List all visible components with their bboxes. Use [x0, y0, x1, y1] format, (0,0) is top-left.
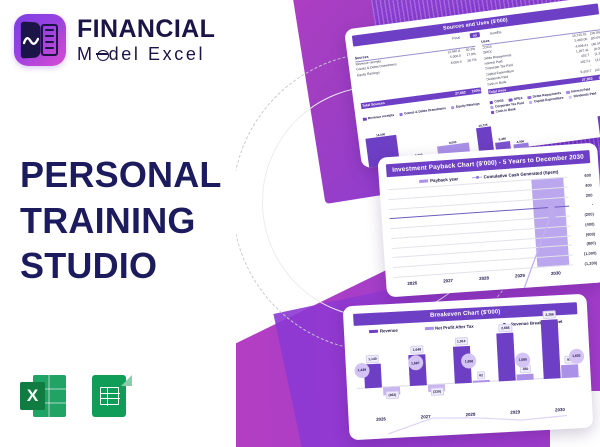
y-tick: 200	[586, 192, 593, 197]
total-pct: 100%	[592, 75, 600, 81]
supported-formats: X	[20, 373, 132, 419]
legend-item: Revenue	[369, 327, 398, 333]
y-tick: (1,000)	[584, 250, 597, 256]
y-tick: 400	[585, 182, 592, 187]
financial-model-excel-logo-icon	[14, 14, 66, 66]
brand-o-glyph-icon	[96, 47, 108, 61]
legend-swatch	[489, 101, 493, 105]
legend-swatch	[508, 98, 512, 102]
legend-label: Revenue receipts	[368, 113, 395, 120]
logo-document-icon	[41, 24, 58, 56]
y-tick: 600	[584, 172, 591, 177]
y-tick: (800)	[586, 241, 596, 247]
legend-label: Grants & Debts Drawdowns	[404, 107, 446, 116]
legend-swatch-revenue	[369, 329, 378, 333]
bar-label: 14,000	[376, 132, 386, 137]
logo-wave-icon	[23, 36, 39, 46]
legend-item: Equity Raisings	[451, 102, 480, 110]
page-title-line-3: STUDIO	[20, 243, 222, 289]
tab-all[interactable]: All	[470, 32, 481, 38]
bar-label: 10,725	[478, 123, 488, 128]
legend-swatch-npat	[424, 326, 433, 330]
legend-label: Revenue	[380, 327, 398, 333]
bar-label: 8,000	[449, 140, 457, 145]
revenue-label: 3,286	[543, 311, 557, 319]
legend-swatch	[399, 112, 403, 116]
legend-swatch	[451, 106, 455, 110]
brand-sub-prefix: M	[77, 45, 95, 63]
legend-swatch	[527, 96, 531, 100]
legend-item: Grants & Debts Drawdowns	[399, 107, 446, 117]
brand-sub-suffix: del Excel	[109, 45, 205, 63]
y-tick: (1,200)	[584, 260, 597, 266]
breakeven-card[interactable]: Breakeven Chart ($'000) Revenue Net Prof…	[343, 294, 594, 441]
poster-canvas: FINANCIAL M del Excel PERSONAL TRAINING …	[0, 0, 600, 447]
bar-label: 4,006	[516, 139, 524, 144]
legend-swatch-bar	[419, 179, 428, 183]
tab-final[interactable]: Final	[449, 35, 463, 42]
legend-label: Equity Raisings	[456, 102, 480, 109]
y-tick: (200)	[584, 211, 594, 217]
sheets-table-glyph	[100, 387, 119, 405]
legend-swatch	[363, 117, 367, 121]
legend-swatch	[566, 90, 570, 94]
legend-swatch-line	[472, 175, 482, 179]
excel-x-glyph: X	[20, 382, 45, 410]
brand-name-secondary: M del Excel	[77, 45, 215, 63]
page-title-line-1: PERSONAL	[20, 152, 222, 198]
total-value: 27,853	[570, 76, 592, 83]
investment-payback-card[interactable]: Investment Payback Chart ($'000) - 5 Yea…	[377, 142, 600, 297]
brand-lockup: FINANCIAL M del Excel	[14, 14, 215, 66]
total-value: 27,853	[444, 91, 466, 98]
legend-item: Payback year	[419, 176, 458, 184]
legend-swatch	[529, 100, 533, 104]
y-tick: -	[592, 202, 594, 207]
breakeven-bubble: 1,602	[569, 348, 585, 364]
y-tick: (400)	[585, 221, 595, 227]
legend-swatch	[568, 95, 572, 99]
tab-months[interactable]: months	[486, 29, 504, 36]
page-title: PERSONAL TRAINING STUDIO	[20, 152, 222, 289]
payback-plot-area: 600 400 200 - (200) (400) (600) (800) (1…	[388, 177, 574, 277]
legend-swatch	[490, 110, 494, 114]
google-sheets-icon	[86, 373, 132, 419]
sources-and-uses-card[interactable]: Sources and Uses ($'000) Final All month…	[344, 0, 600, 169]
brand-name-primary: FINANCIAL	[77, 17, 215, 42]
microsoft-excel-icon: X	[20, 373, 66, 419]
legend-label: Net Profit After Tax	[435, 323, 474, 330]
total-pct: 100%	[465, 89, 480, 95]
brand-wordmark: FINANCIAL M del Excel	[77, 17, 215, 63]
payback-y-axis-labels: 600 400 200 - (200) (400) (600) (800) (1…	[567, 175, 597, 264]
uses-column: Uses COGS 10,725.01 (38.5%) OPEX 5,460.0…	[481, 25, 600, 95]
page-title-line-2: TRAINING	[20, 198, 222, 244]
legend-item: Revenue receipts	[363, 113, 395, 121]
legend-swatch	[490, 106, 494, 110]
breakeven-plot-area: 1,140 (362) 1,439 1,648 (330) 1,687 1,91…	[354, 325, 582, 415]
y-tick: (600)	[586, 231, 596, 237]
bar-label: 5,460	[498, 137, 506, 142]
legend-label: Payback year	[430, 176, 458, 183]
row-pct: (43.1%)	[591, 67, 600, 74]
breakeven-level-line	[354, 325, 589, 441]
payback-data-points	[388, 177, 580, 298]
